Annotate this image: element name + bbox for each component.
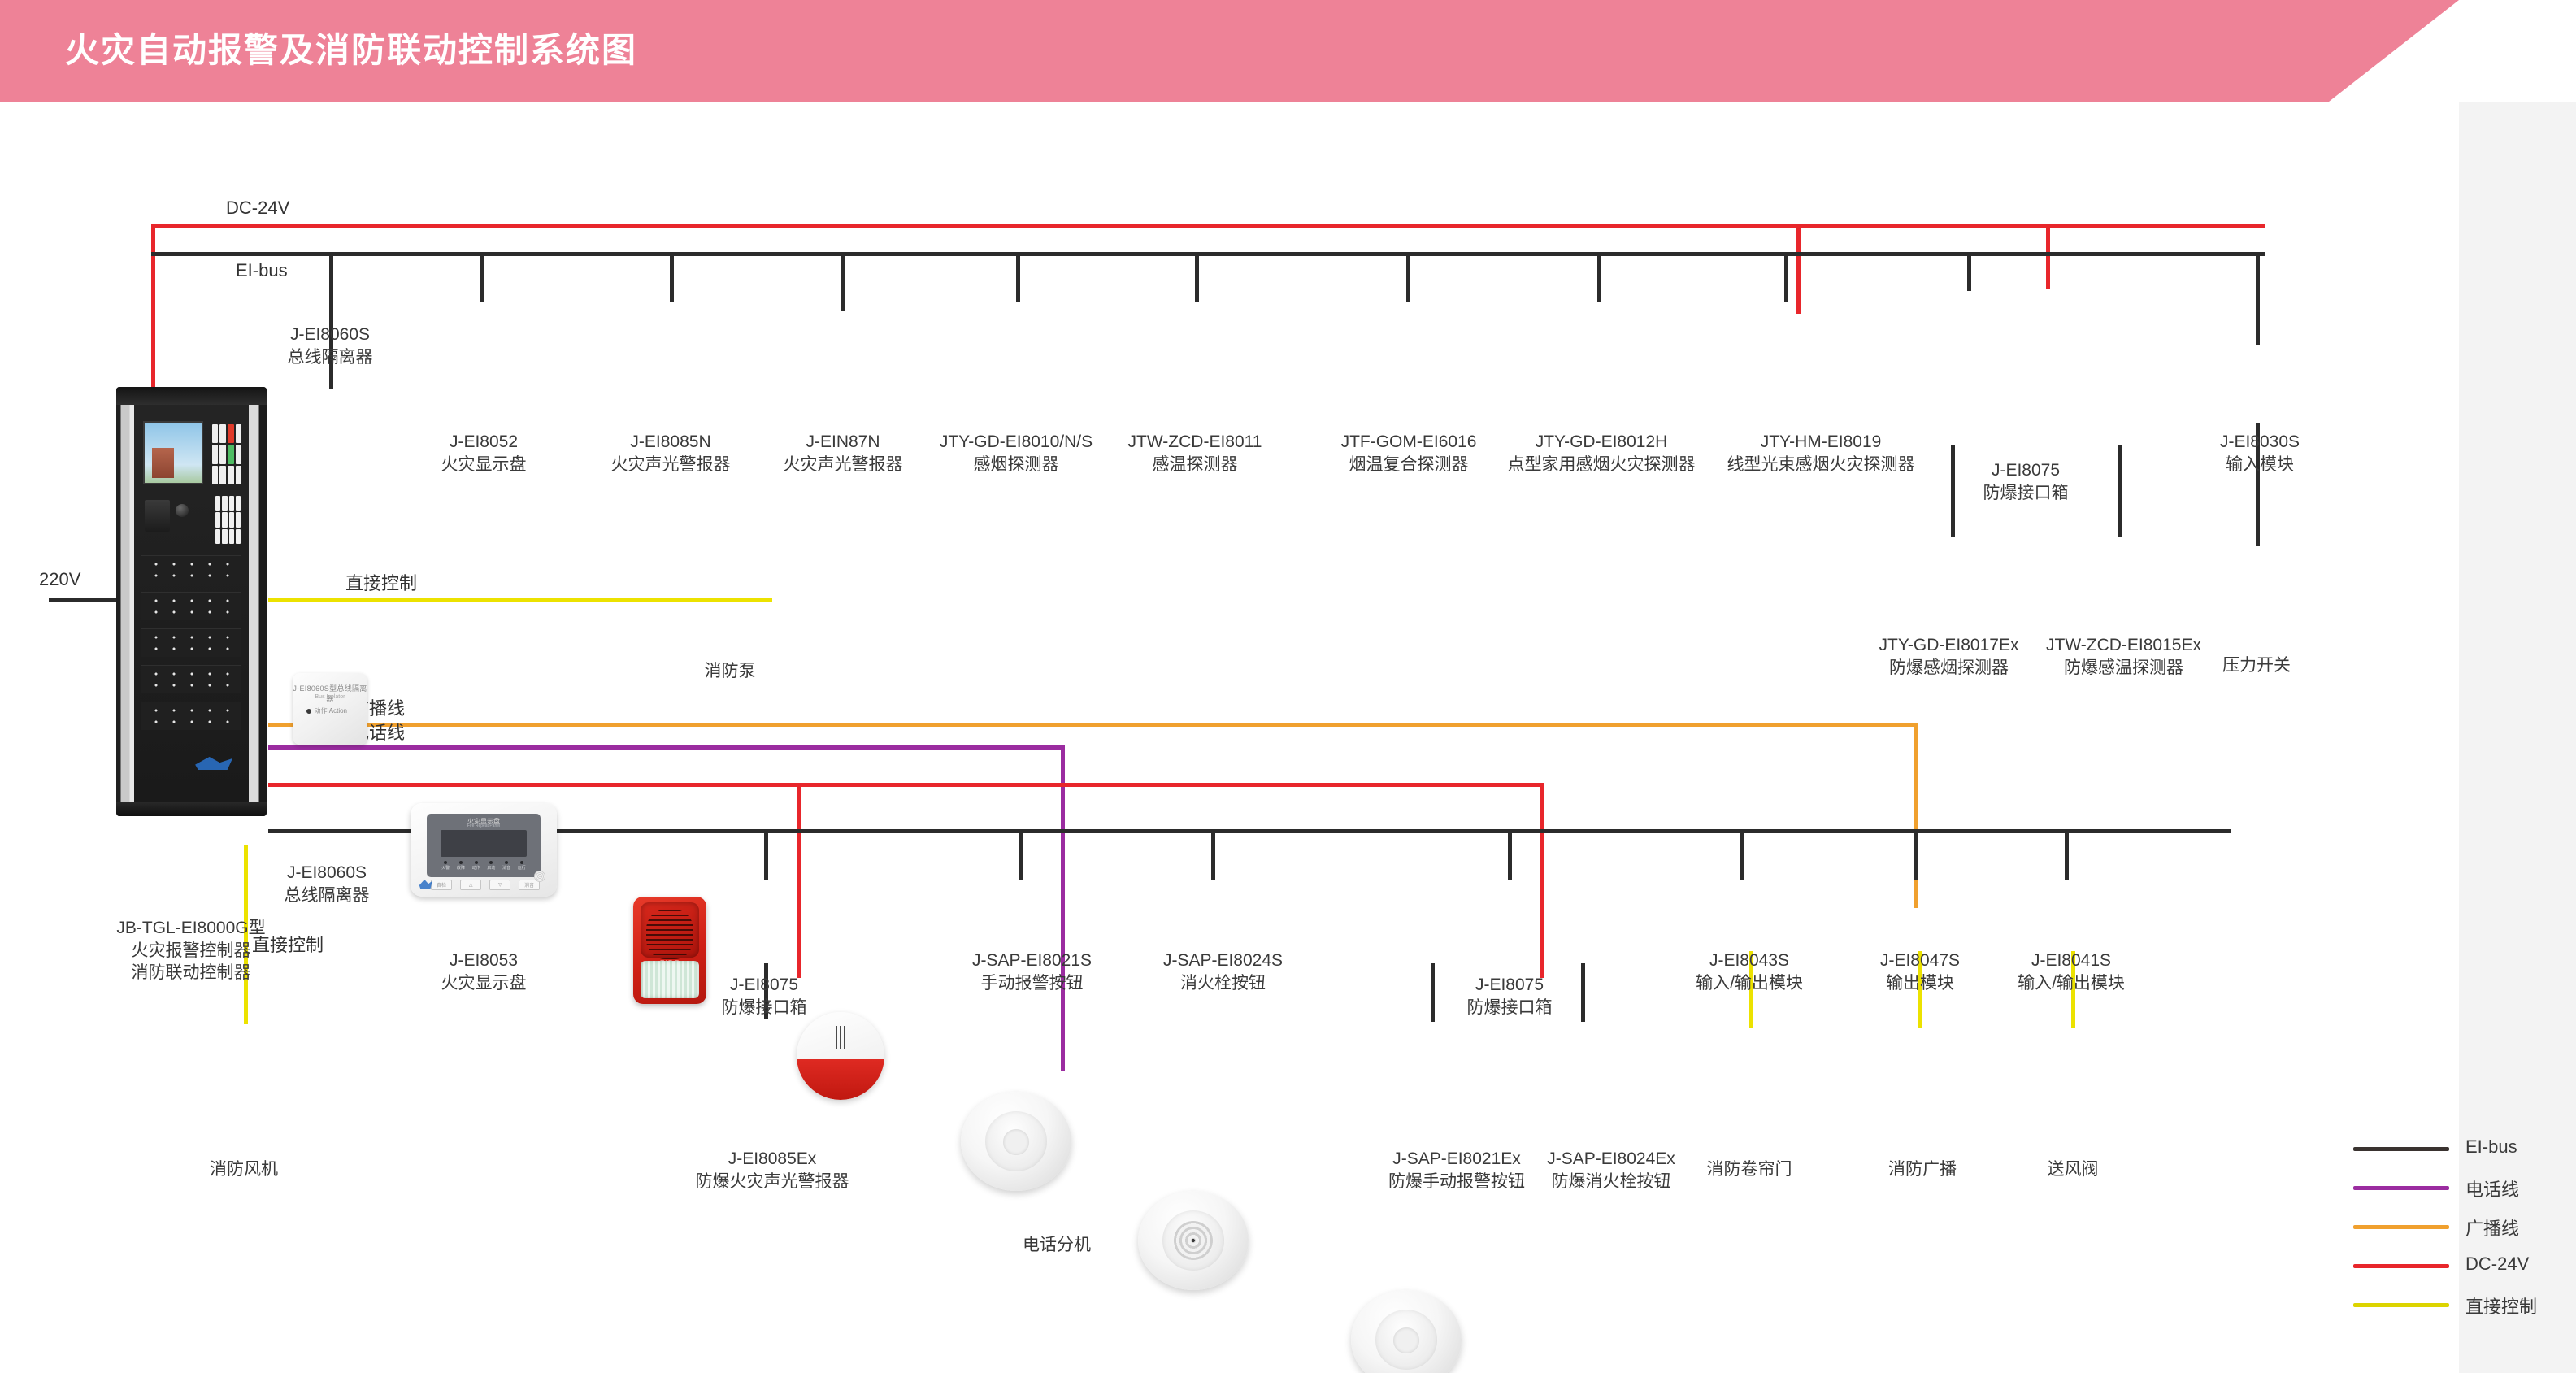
led: [219, 424, 226, 443]
led: [236, 445, 242, 463]
device-name: 防爆接口箱: [1428, 997, 1591, 1019]
wire-dc24v-lower-drop-2: [1540, 783, 1544, 978]
device-name: 火灾显示盘: [398, 972, 569, 995]
controller-name-1: 火灾报警控制器: [45, 940, 337, 962]
device-model: JTW-ZCD-EI8015Ex: [2028, 634, 2219, 657]
fire-alarm-control-cabinet[interactable]: [116, 387, 267, 816]
caption-telephone-extension: 电话分机: [975, 1234, 1138, 1257]
header-corner-accent: [2329, 0, 2459, 102]
wire-eibus-drop-6: [1406, 252, 1410, 302]
device-name: 点型家用感烟火灾探测器: [1479, 454, 1723, 476]
caption-8053: J-EI8053 火灾显示盘: [398, 949, 569, 994]
led: [236, 424, 242, 443]
wire-eibus-drop-4: [1016, 252, 1020, 302]
caption-8024s: J-SAP-EI8024S 消火栓按钮: [1132, 949, 1314, 994]
key[interactable]: [222, 496, 227, 511]
key[interactable]: [215, 529, 220, 544]
device-model: J-EI8085Ex: [675, 1148, 870, 1171]
device-model: JTW-ZCD-EI8011: [1089, 431, 1301, 454]
legend-row-eibus: EI-bus: [2353, 1130, 2565, 1169]
caption-expbox-bottom-left: J-EI8075 防爆接口箱: [683, 974, 845, 1019]
wire-input-module-to-pressure-switch: [2256, 520, 2260, 546]
label-ei-bus: EI-bus: [236, 260, 288, 281]
legend-row-dc24v: DC-24V: [2353, 1247, 2565, 1286]
device-model: J-SAP-EI8024Ex: [1514, 1148, 1709, 1171]
isolator-face-title: J-EI8060S型总线隔离器: [293, 683, 367, 704]
device-model: J-EIN87N: [749, 431, 936, 454]
fire-display-panel-8052[interactable]: 火灾显示盘 Fire Repeat Panel 火警 故障 动作 启动 消音 运…: [411, 803, 557, 897]
caption-bus-isolator-top: J-EI8060S 总线隔离器: [257, 324, 403, 368]
isolator-model: J-EI8060S: [254, 862, 400, 884]
legend-label-direct-control: 直接控制: [2465, 1293, 2537, 1319]
cabinet-drawer[interactable]: [145, 500, 170, 532]
device-name: 压力开关: [2195, 654, 2318, 677]
wire-eibus-drop-2: [670, 252, 674, 302]
led-dot-icon: [306, 709, 311, 714]
wire-eibus-b-drop-5: [1508, 829, 1512, 880]
wire-eibus-b-drop-8: [2065, 829, 2069, 880]
led: [212, 424, 219, 443]
isolator-action-led-label: 动作 Action: [306, 706, 347, 715]
cabinet-keypad[interactable]: [215, 496, 241, 544]
wire-eibus-b-drop-3: [1019, 829, 1023, 880]
device-name: 消防风机: [171, 1158, 317, 1181]
device-name: 输入/输出模块: [1998, 972, 2144, 995]
device-model: JTY-HM-EI8019: [1699, 431, 1943, 454]
panel-led: 启动: [487, 861, 495, 872]
panel-screen-window: [441, 830, 528, 857]
caption-air-valve: 送风阀: [2016, 1158, 2130, 1181]
wire-dc24v-trunk: [151, 224, 2265, 228]
device-model: J-SAP-EI8021S: [940, 949, 1123, 972]
brand-logo-icon: [195, 757, 232, 770]
device-name: 防爆感烟探测器: [1857, 657, 2040, 680]
panel-selftest-button[interactable]: 自检: [431, 880, 452, 890]
device-name: 消防卷帘门: [1684, 1158, 1814, 1181]
wire-eibus-b-drop-2: [764, 829, 768, 880]
caption-input-module-top: J-EI8030S 输入模块: [2187, 431, 2333, 476]
panel-led: 运行: [518, 861, 526, 872]
bus-isolator-top[interactable]: J-EI8060S型总线隔离器 Bus Isolator 动作 Action: [293, 673, 367, 745]
led: [236, 466, 242, 484]
device-name: 手动报警按钮: [940, 972, 1123, 995]
caption-expbox-bottom-right: J-EI8075 防爆接口箱: [1428, 974, 1591, 1019]
key[interactable]: [229, 512, 234, 527]
device-name: 防爆火灾声光警报器: [675, 1171, 870, 1193]
caption-8085ex: J-EI8085Ex 防爆火灾声光警报器: [675, 1148, 870, 1193]
legend-swatch-broadcast: [2353, 1225, 2449, 1229]
device-model: J-EI8030S: [2187, 431, 2333, 454]
panel-down-button[interactable]: ▽: [489, 880, 510, 890]
cabinet-top-cap: [116, 387, 267, 405]
legend-swatch-eibus: [2353, 1147, 2449, 1151]
alarm-speaker-grill-icon: [646, 910, 693, 959]
device-model: J-EI8085N: [577, 431, 764, 454]
legend-swatch-dc24v: [2353, 1264, 2449, 1268]
label-dc24v: DC-24V: [226, 198, 289, 219]
device-model: JTY-GD-EI8017Ex: [1857, 634, 2040, 657]
cabinet-knob[interactable]: [176, 504, 189, 517]
wire-dc24v-drop-beam: [1796, 224, 1801, 314]
legend-swatch-direct-control: [2353, 1303, 2449, 1307]
device-name: 输入/输出模块: [1676, 972, 1822, 995]
caption-8019: JTY-HM-EI8019 线型光束感烟火灾探测器: [1699, 431, 1943, 476]
wire-eibus-b-drop-6: [1740, 829, 1744, 880]
cabinet-led-array: [212, 424, 242, 484]
caption-control-cabinet: JB-TGL-EI8000G型 火灾报警控制器 消防联动控制器: [45, 917, 337, 984]
wire-expbox-to-ex-heat: [2118, 445, 2122, 537]
wire-eibus-trunk-top: [151, 252, 2265, 256]
combined-detector-6016[interactable]: [1351, 1290, 1462, 1373]
terminal-dots: [147, 632, 236, 655]
led-alarm: [228, 424, 234, 443]
led: [219, 466, 226, 484]
wire-eibus-drop-expbox: [1967, 252, 1971, 291]
heat-detector-8011[interactable]: [1138, 1191, 1249, 1290]
module-row: [141, 702, 242, 730]
panel-buttons[interactable]: 自检 △ ▽ 消音: [431, 880, 540, 890]
key[interactable]: [236, 496, 241, 511]
caption-8052: J-EI8052 火灾显示盘: [398, 431, 569, 476]
panel-led: 火警: [441, 861, 450, 872]
caption-fire-fan: 消防风机: [171, 1158, 317, 1181]
caption-8021s: J-SAP-EI8021S 手动报警按钮: [940, 949, 1123, 994]
device-name: 防爆感温探测器: [2028, 657, 2219, 680]
label-220v: 220V: [39, 569, 80, 590]
legend-row-broadcast: 广播线: [2353, 1208, 2565, 1247]
key[interactable]: [222, 529, 227, 544]
device-model: J-EI8075: [1944, 459, 2107, 482]
device-name: 消防泵: [657, 660, 803, 683]
caption-8047s: J-EI8047S 输出模块: [1847, 949, 1993, 994]
isolator-model: J-EI8060S: [257, 324, 403, 346]
caption-8041s: J-EI8041S 输入/输出模块: [1998, 949, 2144, 994]
key[interactable]: [215, 512, 220, 527]
device-name: 消防广播: [1857, 1158, 1987, 1181]
detector-core: [1003, 1129, 1030, 1155]
module-row: [141, 555, 242, 584]
isolator-face-sub: Bus Isolator: [293, 694, 367, 700]
caption-fire-pump: 消防泵: [657, 660, 803, 683]
cabinet-module-rows: [141, 555, 242, 730]
wire-direct-control-top: [268, 598, 772, 602]
panel-led: 消音: [502, 861, 510, 872]
wire-eibus-b-drop-7: [1914, 829, 1918, 880]
speaker-icon: [534, 871, 545, 882]
led: [219, 445, 226, 463]
sound-light-alarm-ein87n[interactable]: [797, 1012, 884, 1100]
caption-ex-heat: JTW-ZCD-EI8015Ex 防爆感温探测器: [2028, 634, 2219, 679]
isolator-name: 总线隔离器: [257, 346, 403, 369]
horn-slots-icon: [836, 1026, 846, 1049]
label-direct-control-top: 直接控制: [345, 569, 417, 595]
device-model: J-EI8053: [398, 949, 569, 972]
key[interactable]: [229, 496, 234, 511]
caption-8012h: JTY-GD-EI8012H 点型家用感烟火灾探测器: [1479, 431, 1723, 476]
caption-bus-isolator-bottom: J-EI8060S 总线隔离器: [254, 862, 400, 906]
led: [212, 445, 219, 463]
legend-label-dc24v: DC-24V: [2465, 1254, 2529, 1275]
detector-core: [1393, 1327, 1420, 1353]
terminal-dots: [147, 595, 236, 619]
key[interactable]: [229, 529, 234, 544]
display-image: [152, 448, 175, 478]
key[interactable]: [236, 529, 241, 544]
legend-label-eibus: EI-bus: [2465, 1136, 2517, 1158]
wire-eibus-drop-8: [1784, 252, 1788, 302]
wire-broadcast-down: [1914, 723, 1918, 908]
device-model: J-EI8075: [683, 974, 845, 997]
legend-row-direct-control: 直接控制: [2353, 1286, 2565, 1325]
isolator-name: 总线隔离器: [254, 884, 400, 907]
led: [228, 466, 234, 484]
caption-8085n: J-EI8085N 火灾声光警报器: [577, 431, 764, 476]
device-name: 电话分机: [975, 1234, 1138, 1257]
terminal-dots: [147, 558, 236, 582]
device-model: J-EI8052: [398, 431, 569, 454]
legend-label-broadcast: 广播线: [2465, 1214, 2519, 1240]
wire-eibus-trunk-bottom: [268, 829, 2231, 833]
caption-broadcast-speaker: 消防广播: [1857, 1158, 1987, 1181]
key[interactable]: [236, 512, 241, 527]
caption-8043s: J-EI8043S 输入/输出模块: [1676, 949, 1822, 994]
device-name: 火灾声光警报器: [577, 454, 764, 476]
device-name: 火灾显示盘: [398, 454, 569, 476]
wire-eibus-b-drop-4: [1211, 829, 1215, 880]
device-model: J-EI8075: [1428, 974, 1591, 997]
controller-model: JB-TGL-EI8000G型: [45, 917, 337, 940]
module-row: [141, 592, 242, 620]
device-model: JTY-GD-EI8012H: [1479, 431, 1723, 454]
device-model: J-SAP-EI8024S: [1132, 949, 1314, 972]
device-name: 线型光束感烟火灾探测器: [1699, 454, 1943, 476]
caption-expbox-top: J-EI8075 防爆接口箱: [1944, 459, 2107, 504]
wire-dc24v-lower-trunk: [268, 783, 1544, 787]
smoke-detector-8010[interactable]: [961, 1092, 1071, 1191]
caption-8024ex: J-SAP-EI8024Ex 防爆消火栓按钮: [1514, 1148, 1709, 1193]
caption-roller-shutter: 消防卷帘门: [1684, 1158, 1814, 1181]
legend-swatch-telephone: [2353, 1186, 2449, 1190]
caption-ein87n: J-EIN87N 火灾声光警报器: [749, 431, 936, 476]
device-name: 火灾声光警报器: [749, 454, 936, 476]
key[interactable]: [222, 512, 227, 527]
device-name: 消火栓按钮: [1132, 972, 1314, 995]
device-name: 感温探测器: [1089, 454, 1301, 476]
legend-label-telephone: 电话线: [2465, 1175, 2519, 1201]
led-run: [228, 445, 234, 463]
panel-led-row: 火警 故障 动作 启动 消音 运行: [438, 861, 529, 872]
device-name: 防爆接口箱: [1944, 482, 2107, 505]
wire-telephone-trunk: [268, 745, 1065, 750]
terminal-dots: [147, 668, 236, 692]
panel-screen-subtitle: Fire Repeat Panel: [427, 823, 541, 828]
panel-screen: 火灾显示盘 Fire Repeat Panel 火警 故障 动作 启动 消音 运…: [427, 814, 541, 877]
cabinet-display[interactable]: [143, 421, 202, 484]
wire-dc24v-drop-expbox: [2046, 224, 2050, 289]
legend: EI-bus 电话线 广播线 DC-24V 直接控制: [2353, 1130, 2565, 1325]
cabinet-bottom-cap: [116, 802, 267, 816]
terminal-dots: [147, 705, 236, 728]
device-name: 防爆消火栓按钮: [1514, 1171, 1709, 1193]
device-name: 输入模块: [2187, 454, 2333, 476]
wire-eibus-drop-5: [1195, 252, 1199, 302]
wire-dc24v-lower-drop-1: [797, 783, 801, 978]
legend-row-telephone: 电话线: [2353, 1169, 2565, 1208]
panel-up-button[interactable]: △: [460, 880, 481, 890]
wire-eibus-drop-input-module: [2256, 252, 2260, 345]
caption-8011: JTW-ZCD-EI8011 感温探测器: [1089, 431, 1301, 476]
controller-name-2: 消防联动控制器: [45, 962, 337, 984]
device-model: J-EI8047S: [1847, 949, 1993, 972]
device-model: J-EI8041S: [1998, 949, 2144, 972]
wire-eibus-drop-3: [841, 252, 845, 311]
page-title: 火灾自动报警及消防联动控制系统图: [65, 23, 637, 72]
horn-red-half: [797, 1059, 884, 1100]
device-name: 送风阀: [2016, 1158, 2130, 1181]
module-row: [141, 628, 242, 657]
cabinet-face: [134, 405, 249, 802]
device-model: J-EI8043S: [1676, 949, 1822, 972]
wire-eibus-drop-1: [480, 252, 484, 302]
caption-ex-smoke: JTY-GD-EI8017Ex 防爆感烟探测器: [1857, 634, 2040, 679]
key[interactable]: [215, 496, 220, 511]
panel-led: 动作: [472, 861, 480, 872]
led: [212, 466, 219, 484]
wire-broadcast-trunk: [268, 723, 1918, 727]
device-name: 防爆接口箱: [683, 997, 845, 1019]
panel-led: 故障: [457, 861, 465, 872]
device-name: 输出模块: [1847, 972, 1993, 995]
wire-eibus-drop-7: [1597, 252, 1601, 302]
module-row: [141, 665, 242, 693]
wire-dc24v-down-left: [151, 224, 155, 387]
caption-pressure-switch: 压力开关: [2195, 654, 2318, 677]
